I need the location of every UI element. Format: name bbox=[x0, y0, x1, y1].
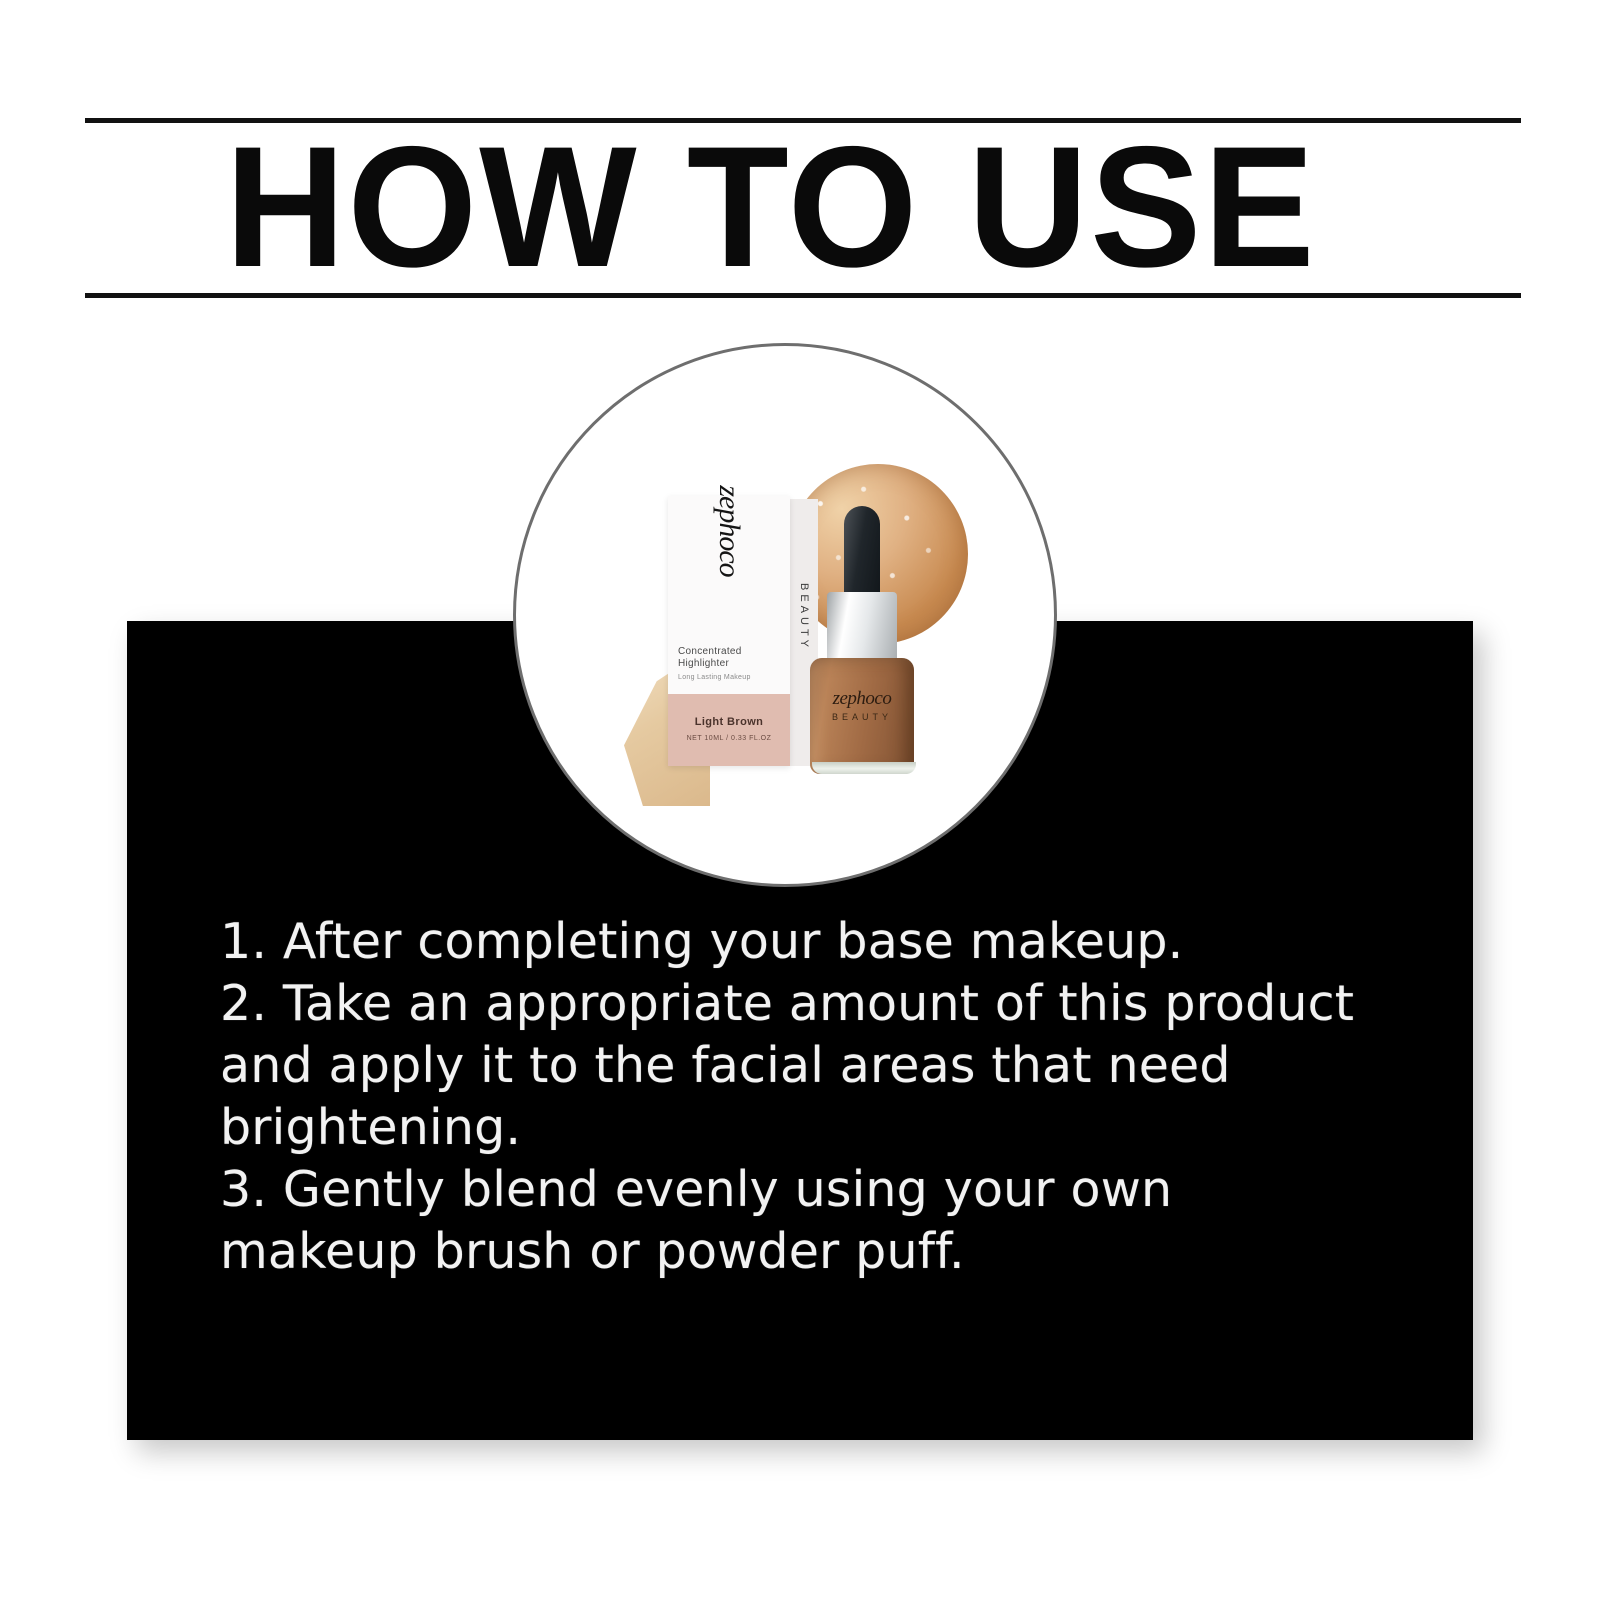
instruction-step-1: 1. After completing your base makeup. bbox=[220, 911, 1355, 973]
instruction-step-3: 3. Gently blend evenly using your own ma… bbox=[220, 1159, 1355, 1283]
title-block: HOW TO USE bbox=[85, 110, 1521, 305]
page-title: HOW TO USE bbox=[225, 120, 1447, 295]
instruction-step-2: 2. Take an appropriate amount of this pr… bbox=[220, 973, 1355, 1159]
bottle-brand-label: zephoco bbox=[808, 688, 916, 710]
dropper-collar bbox=[827, 592, 897, 666]
bottle-subtitle-label: BEAUTY bbox=[808, 712, 916, 722]
title-rule-bottom bbox=[85, 293, 1521, 298]
instruction-list: 1. After completing your base makeup. 2.… bbox=[220, 911, 1355, 1283]
product-scene: BEAUTY zephoco Concentrated Highlighter … bbox=[516, 346, 1057, 887]
carton-brand-label: zephoco bbox=[712, 478, 746, 584]
carton-shade-label: Light Brown bbox=[668, 716, 790, 728]
carton-subline: Long Lasting Makeup bbox=[678, 673, 782, 682]
bottle-base bbox=[812, 762, 916, 774]
carton-description-text: Concentrated Highlighter bbox=[678, 646, 742, 669]
carton-description: Concentrated Highlighter Long Lasting Ma… bbox=[678, 646, 782, 682]
product-bottle: zephoco BEAUTY bbox=[808, 506, 916, 774]
carton-shade-band: Light Brown NET 10ML / 0.33 FL.OZ bbox=[668, 694, 790, 766]
carton-net-content: NET 10ML / 0.33 FL.OZ bbox=[668, 735, 790, 742]
poster-canvas: HOW TO USE 1. After completing your base… bbox=[0, 0, 1600, 1600]
dropper-teat bbox=[844, 506, 880, 602]
product-image-circle: BEAUTY zephoco Concentrated Highlighter … bbox=[513, 343, 1057, 887]
product-carton: zephoco Concentrated Highlighter Long La… bbox=[668, 496, 790, 766]
